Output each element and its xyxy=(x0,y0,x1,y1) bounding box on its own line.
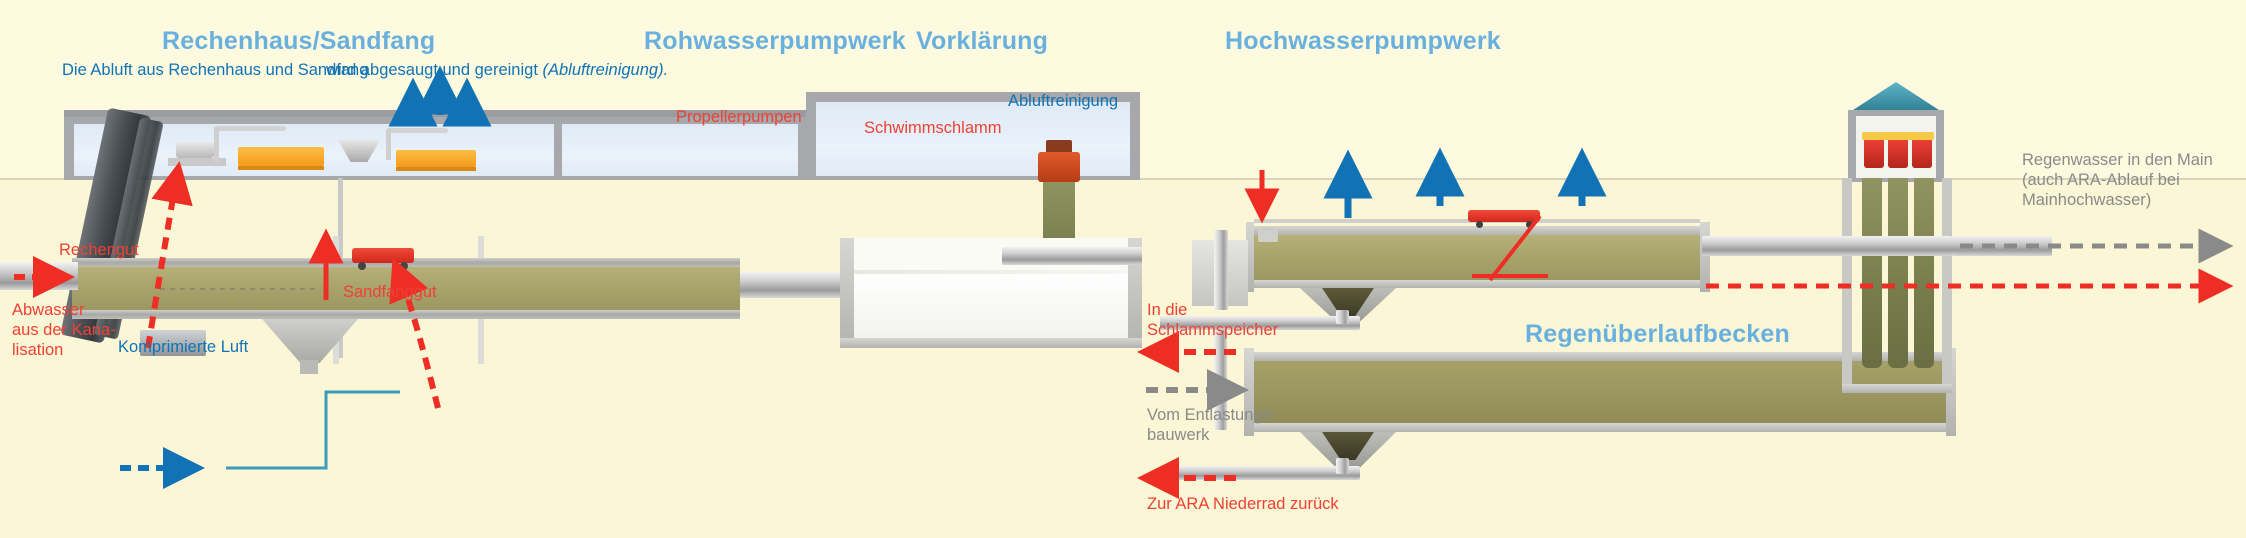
container-orange-2 xyxy=(396,150,476,167)
caption-schlammspeicher-line-1: In die xyxy=(1147,300,1347,320)
crane-arm-left xyxy=(214,128,219,162)
sandfang-bottom-wall xyxy=(72,310,740,319)
caption-abluft-italic: (Abluftreinigung). xyxy=(543,61,669,79)
hochwasser-pump-block-3 xyxy=(1912,138,1932,168)
vorklaerung-water xyxy=(1252,235,1702,280)
screen-machine-hood xyxy=(176,142,214,158)
main-outfall-pipe xyxy=(1952,236,2052,256)
hochwasser-column-3 xyxy=(1914,178,1934,368)
caption-schlammspeicher-line-2: Schlammspeicher xyxy=(1147,320,1347,340)
propellerpumpe-motor xyxy=(1038,152,1080,182)
caption-abluft-post: wird abgesaugt und gereinigt (Abluftrein… xyxy=(326,60,668,80)
hochwasser-pump-block-2 xyxy=(1888,138,1908,168)
hochwasser-shaft-wall-left xyxy=(1842,178,1852,388)
heading-rohwasserpumpwerk: Rohwasserpumpwerk xyxy=(644,27,906,56)
sandfang-hopper-outlet xyxy=(300,360,318,374)
regenbecken-return-riser xyxy=(1336,458,1349,474)
caption-schlammspeicher: In die Schlammspeicher xyxy=(1147,300,1347,340)
caption-regenwasser-line-2: (auch ARA-Ablauf bei xyxy=(2022,170,2242,190)
caption-rechengut: Rechengut xyxy=(59,240,139,260)
regenbecken-bottom-wall xyxy=(1252,423,1952,432)
vorklaerung-effluent-pipe xyxy=(1702,236,1952,256)
crane-rail-left xyxy=(214,126,286,131)
diagram-canvas: Rechenhaus/Sandfang Rohwasserpumpwerk Vo… xyxy=(0,0,2246,538)
caption-schwimmschlamm: Schwimmschlamm xyxy=(864,118,1002,138)
hochwasser-shaft-wall-right xyxy=(1942,178,1952,388)
sandfanggut-cart-wheel-l xyxy=(358,262,366,270)
sandfanggut-cart-wheel-r xyxy=(400,262,408,270)
wet-well-wall-left xyxy=(840,238,854,348)
caption-abluft-pre: Die Abluft aus Rechenhaus und Sandfang xyxy=(62,60,368,80)
heading-regenueberlaufbecken: Regenüberlaufbecken xyxy=(1525,320,1790,349)
hochwasser-pump-caps xyxy=(1862,132,1934,140)
hochwasser-column-1 xyxy=(1862,178,1882,368)
caption-entlastungsbauwerk-line-2: bauwerk xyxy=(1147,425,1347,445)
hochwasser-roof xyxy=(1850,82,1942,112)
wet-well-floor xyxy=(840,338,1142,348)
caption-komprimierte-luft: Komprimierte Luft xyxy=(118,337,248,357)
rohwasserpumpwerk-window xyxy=(816,102,1130,176)
vorklaerung-scraper-wheel-l xyxy=(1476,221,1483,228)
container-orange-1-legs xyxy=(238,166,324,170)
caption-abluftreinigung: Abluftreinigung xyxy=(1008,91,1118,111)
sandfanggut-cart xyxy=(352,248,414,263)
hochwasser-column-2 xyxy=(1888,178,1908,368)
vorklaerung-wall-right xyxy=(1700,222,1710,292)
heading-hochwasserpumpwerk: Hochwasserpumpwerk xyxy=(1225,27,1501,56)
caption-ara-zurueck: Zur ARA Niederrad zurück xyxy=(1147,494,1339,514)
caption-regenwasser: Regenwasser in den Main (auch ARA-Ablauf… xyxy=(2022,150,2242,210)
caption-propellerpumpen: Propellerpumpen xyxy=(676,107,802,127)
aeration-pipe-line xyxy=(160,288,320,290)
wet-well-water xyxy=(854,272,1128,338)
rechenhaus-window-right xyxy=(562,124,798,176)
heading-rechenhaus: Rechenhaus/Sandfang xyxy=(162,27,435,56)
heading-vorklaerung: Vorklärung xyxy=(916,27,1048,56)
container-orange-2-legs xyxy=(396,167,476,171)
caption-regenwasser-line-1: Regenwasser in den Main xyxy=(2022,150,2242,170)
vorklaerung-scum-trough xyxy=(1258,230,1278,242)
caption-entlastungsbauwerk: Vom Entlastungs- bauwerk xyxy=(1147,405,1347,445)
caption-abluft-post-text: wird abgesaugt und gereinigt xyxy=(326,61,538,79)
hochwasser-shaft-floor xyxy=(1842,384,1952,393)
vorklaerung-bottom-wall xyxy=(1252,280,1702,288)
hochwasser-pump-block-1 xyxy=(1864,138,1884,168)
crane-arm-right xyxy=(386,130,391,160)
caption-regenwasser-line-3: Mainhochwasser) xyxy=(2022,190,2242,210)
caption-entlastungsbauwerk-line-1: Vom Entlastungs- xyxy=(1147,405,1347,425)
propellerpumpe-motor-top xyxy=(1046,140,1072,152)
container-orange-1 xyxy=(238,147,324,166)
regenbecken-return-pipe xyxy=(1160,466,1360,480)
caption-abwasser-line-1: Abwasser xyxy=(12,300,162,320)
vorklaerung-inlet-riser xyxy=(1214,230,1228,310)
vorklaerung-scraper-wheel-r xyxy=(1526,221,1533,228)
crane-rail-right xyxy=(386,128,448,133)
rohwasser-pressure-pipe xyxy=(1002,247,1142,265)
caption-sandfanggut: Sandfanggut xyxy=(343,282,437,302)
